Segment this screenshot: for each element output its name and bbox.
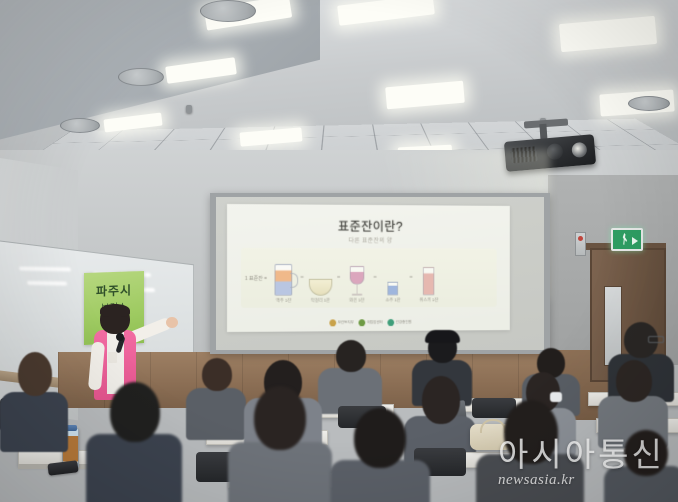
drink-beer-mug: 맥주 1잔 [269, 252, 299, 304]
sprinkler-head [186, 105, 192, 113]
ceiling-vent [628, 96, 670, 111]
drink-makgeolli-bowl: 막걸리 1잔 [306, 252, 335, 304]
makgeolli-bowl-icon [309, 279, 332, 296]
logo-mark-icon [387, 319, 394, 326]
attendee-dark-coat-right [476, 400, 584, 502]
drink-caption: 소주 1잔 [385, 297, 400, 303]
equals-sign: = [409, 275, 412, 281]
attendee-pink-sleeve [330, 408, 430, 502]
fire-alarm-panel[interactable] [575, 232, 586, 256]
banner-line-1: 파주시 [84, 281, 144, 300]
equation-label: 1 표준잔 = [245, 274, 267, 281]
presenter-hand [166, 317, 178, 328]
ceiling-vent [60, 118, 100, 133]
standard-drink-equation: 1 표준잔 = 맥주 1잔 = 막걸리 1잔 = [241, 248, 497, 308]
drink-soju-glass: 소주 1잔 [379, 252, 408, 303]
slide-logo: 보건복지부 [329, 319, 353, 326]
highball-glass-icon [423, 267, 434, 295]
photo-scene: 표준잔이란? 다른 표준잔의 양 1 표준잔 = 맥주 1잔 = 막걸리 1잔 … [0, 0, 678, 502]
drink-caption: 맥주 1잔 [276, 298, 292, 304]
drink-highball-glass: 위스키 1잔 [415, 252, 444, 303]
wine-stem [356, 285, 358, 294]
slide-logo: 국립암센터 [358, 319, 382, 326]
presentation-slide: 표준잔이란? 다른 표준잔의 양 1 표준잔 = 맥주 1잔 = 막걸리 1잔 … [227, 204, 510, 332]
exit-sign [611, 228, 643, 251]
logo-mark-icon [358, 319, 365, 326]
attendee-front-left [0, 352, 68, 448]
soju-glass-icon [388, 282, 399, 296]
microphone-head-icon [116, 333, 124, 341]
presenter-name-badge [108, 352, 117, 363]
projector-knob [546, 143, 563, 160]
ceiling-vent [118, 68, 164, 86]
arrow-right-icon [632, 237, 638, 245]
equals-sign: = [337, 275, 340, 281]
slide-title: 표준잔이란? [227, 215, 510, 235]
baseball-cap-icon [425, 330, 460, 343]
slide-subtitle: 다른 표준잔의 양 [227, 235, 510, 245]
logo-mark-icon [329, 319, 336, 326]
drink-caption: 위스키 1잔 [419, 297, 438, 303]
slide-logo-row: 보건복지부 국립암센터 건강증진원 [227, 318, 510, 327]
drink-caption: 와인 1잔 [349, 298, 364, 304]
glasses-icon [648, 336, 664, 343]
slide-logo: 건강증진원 [387, 319, 411, 326]
slide-content-panel: 1 표준잔 = 맥주 1잔 = 막걸리 1잔 = [241, 248, 497, 308]
equals-sign: = [373, 275, 376, 281]
ceiling-vent [200, 0, 256, 22]
presenter-fringe [100, 304, 130, 317]
projection-screen: 표준잔이란? 다른 표준잔의 양 1 표준잔 = 맥주 1잔 = 막걸리 1잔 … [216, 197, 544, 350]
attendee-navy-vest [86, 382, 182, 502]
wine-glass-icon [350, 266, 365, 285]
equals-sign: = [300, 275, 303, 281]
running-man-icon [622, 233, 627, 245]
drink-caption: 막걸리 1잔 [311, 298, 330, 304]
wine-foot [352, 294, 363, 296]
attendee-long-hair-left [228, 386, 332, 502]
attendee-front-right [604, 430, 678, 502]
beer-mug-icon [275, 264, 293, 296]
smartphone[interactable] [47, 460, 78, 476]
logo-label: 건강증진원 [396, 320, 412, 325]
logo-label: 보건복지부 [338, 320, 354, 325]
projector-vent [510, 146, 537, 163]
projector-lens-icon [571, 142, 587, 158]
logo-label: 국립암센터 [367, 320, 383, 325]
drink-wine-glass: 와인 1잔 [342, 252, 371, 303]
